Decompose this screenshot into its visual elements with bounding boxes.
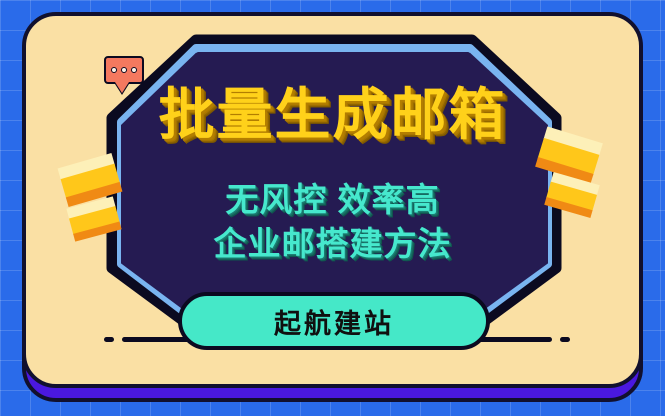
promo-banner: 批量生成邮箱 无风控 效率高 企业邮搭建方法 起航建站 [0, 0, 665, 416]
cta-button[interactable]: 起航建站 [178, 292, 490, 350]
dashed-rule-icon [104, 337, 114, 342]
page-title: 批量生成邮箱 [0, 84, 665, 146]
cta-button-label: 起航建站 [274, 302, 394, 341]
bubble-dot-icon [121, 67, 127, 73]
bubble-dot-icon [131, 67, 137, 73]
bubble-dot-icon [111, 67, 117, 73]
speech-bubble-icon [104, 56, 144, 84]
subtitle-line-2: 企业邮搭建方法 [0, 224, 665, 264]
subtitle-line-1: 无风控 效率高 [0, 180, 665, 220]
dashed-rule-icon [560, 337, 570, 342]
